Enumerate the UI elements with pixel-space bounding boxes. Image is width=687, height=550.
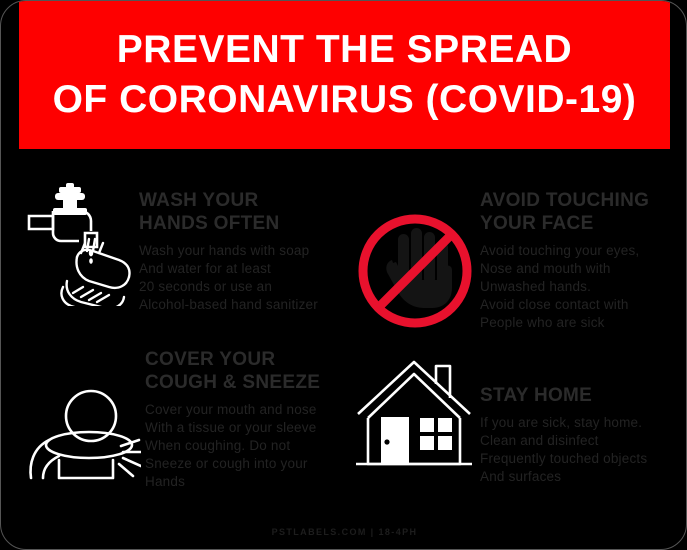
section-stay-home-heading: STAY HOME	[480, 384, 687, 407]
heading-line-1: AVOID TOUCHING	[480, 190, 649, 211]
body-line: If you are sick, stay home.	[480, 414, 687, 432]
section-wash-hands: WASH YOUR HANDS OFTEN Wash your hands wi…	[1, 149, 344, 334]
body-line: 20 seconds or use an	[139, 278, 344, 296]
body-line: And surfaces	[480, 468, 687, 486]
section-avoid-touching-face: AVOID TOUCHING YOUR FACE Avoid touching …	[344, 149, 687, 334]
section-cover-cough-heading: COVER YOUR COUGH & SNEEZE	[145, 348, 344, 394]
body-line: Wash your hands with soap	[139, 242, 344, 260]
body-line: Avoid touching your eyes,	[480, 242, 687, 260]
heading-line-2: HANDS OFTEN	[139, 213, 280, 234]
faucet-washing-hands-icon	[23, 183, 133, 303]
body-line: Clean and disinfect	[480, 432, 687, 450]
section-avoid-touching-face-text: AVOID TOUCHING YOUR FACE Avoid touching …	[480, 183, 687, 332]
body-line: Cover your mouth and nose	[145, 401, 344, 419]
section-cover-cough: COVER YOUR COUGH & SNEEZE Cover your mou…	[1, 334, 344, 514]
covid-prevention-poster: PREVENT THE SPREAD OF CORONAVIRUS (COVID…	[0, 0, 687, 550]
body-line: Avoid close contact with	[480, 296, 687, 314]
prevention-tips-grid: WASH YOUR HANDS OFTEN Wash your hands wi…	[1, 149, 687, 514]
footer-watermark: PSTLABELS.COM | 18-4PH	[1, 527, 687, 537]
body-line: Sneeze or cough into your	[145, 455, 344, 473]
body-line: When coughing. Do not	[145, 437, 344, 455]
body-line: Hands	[145, 473, 344, 491]
heading-line-2: YOUR FACE	[480, 213, 594, 234]
body-line: Unwashed hands.	[480, 278, 687, 296]
body-line: Nose and mouth with	[480, 260, 687, 278]
body-line: People who are sick	[480, 314, 687, 332]
heading-line-2: COUGH & SNEEZE	[145, 372, 320, 393]
body-line: Frequently touched objects	[480, 450, 687, 468]
house-icon	[354, 356, 474, 486]
poster-title-line-2: OF CORONAVIRUS (COVID-19)	[53, 75, 637, 125]
section-stay-home-text: STAY HOME If you are sick, stay home. Cl…	[480, 348, 687, 486]
body-line: With a tissue or your sleeve	[145, 419, 344, 437]
poster-title-line-1: PREVENT THE SPREAD	[117, 25, 572, 75]
poster-header-banner: PREVENT THE SPREAD OF CORONAVIRUS (COVID…	[19, 1, 670, 149]
section-cover-cough-text: COVER YOUR COUGH & SNEEZE Cover your mou…	[145, 348, 344, 491]
person-coughing-into-elbow-icon	[25, 382, 141, 492]
section-stay-home: STAY HOME If you are sick, stay home. Cl…	[344, 334, 687, 514]
heading-line-1: COVER YOUR	[145, 349, 275, 370]
heading-line-1: WASH YOUR	[139, 190, 259, 211]
heading-line-1: STAY HOME	[480, 385, 592, 406]
section-avoid-touching-face-heading: AVOID TOUCHING YOUR FACE	[480, 189, 687, 235]
section-wash-hands-text: WASH YOUR HANDS OFTEN Wash your hands wi…	[139, 183, 344, 314]
body-line: And water for at least	[139, 260, 344, 278]
no-touching-hand-icon	[356, 211, 474, 331]
section-wash-hands-heading: WASH YOUR HANDS OFTEN	[139, 189, 344, 235]
body-line: Alcohol-based hand sanitizer	[139, 296, 344, 314]
